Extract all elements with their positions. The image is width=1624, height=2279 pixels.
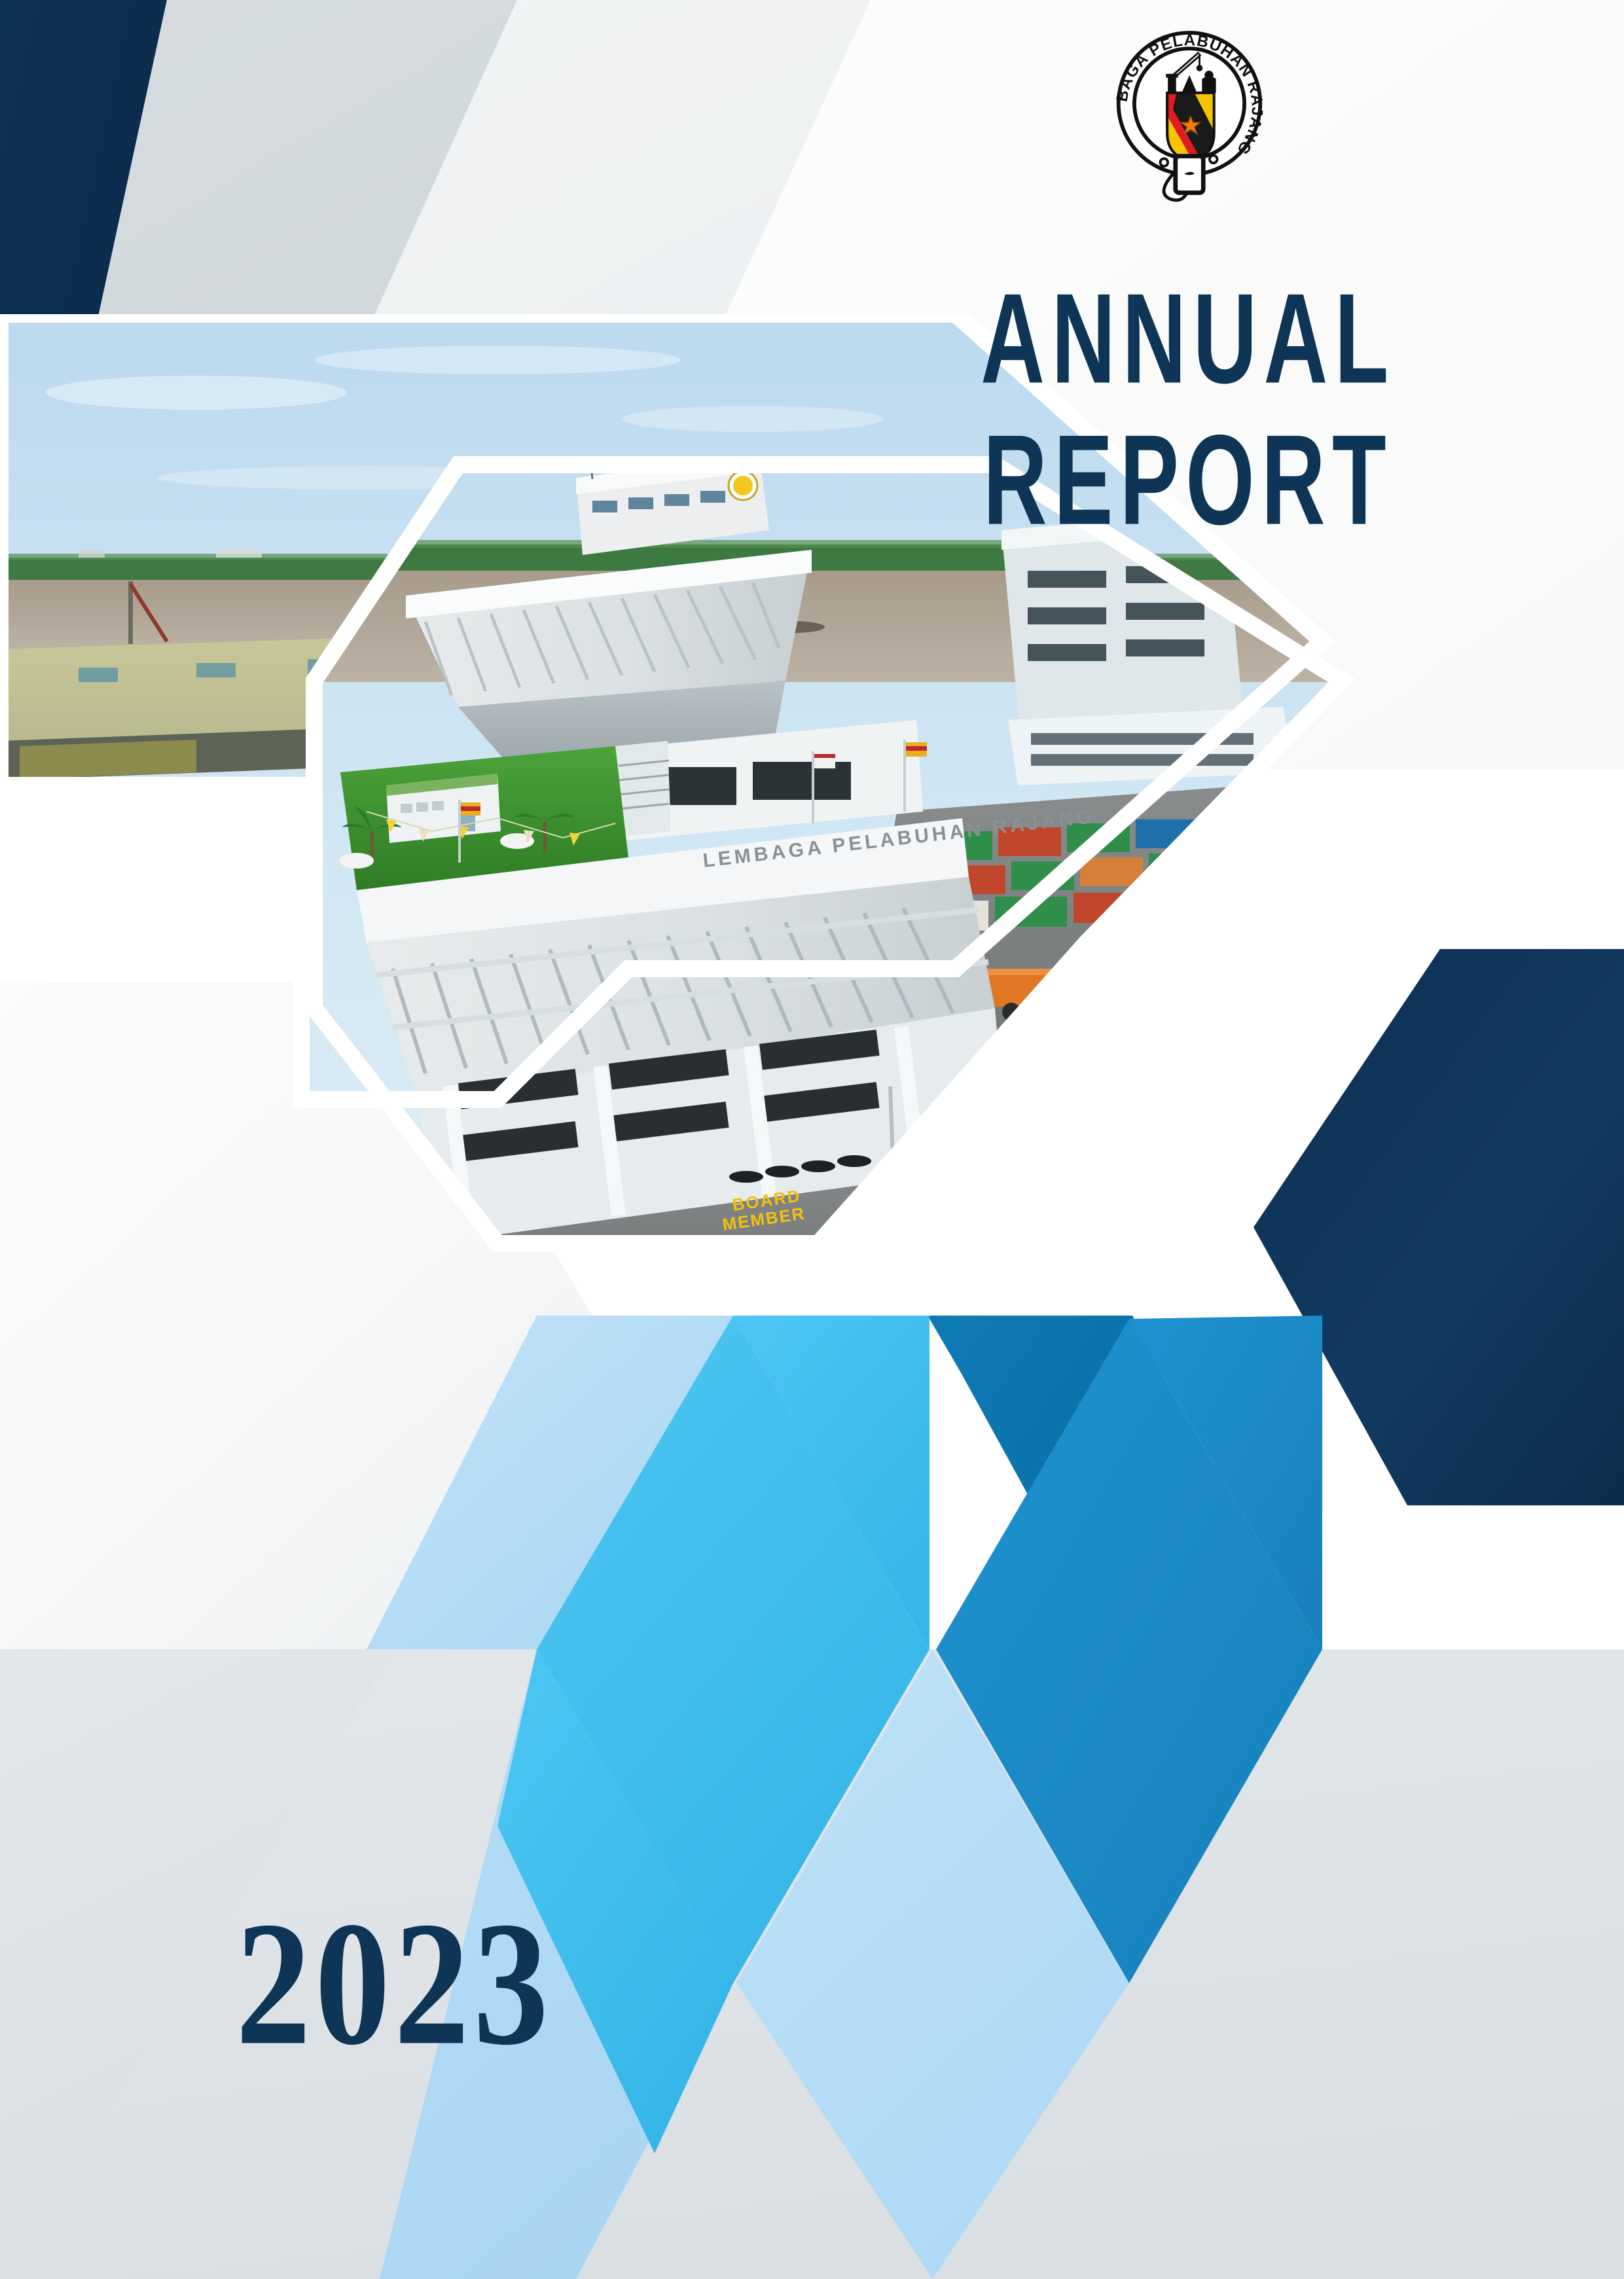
- organization-logo: LEMBAGA PELABUHAN RAJANG: [1094, 13, 1284, 203]
- cover-year: 2023: [236, 1895, 552, 2072]
- annual-report-cover-page: LEMBAGA PELABUHAN RAJANG: [0, 0, 1624, 2279]
- street-trees: [871, 1206, 1367, 1297]
- parked-cars: [956, 1138, 1376, 1190]
- lembaga-pelabuhan-rajang-seal: LEMBAGA PELABUHAN RAJANG: [1094, 13, 1284, 203]
- title-line-report: REPORT: [920, 416, 1456, 545]
- title-line-annual: ANNUAL: [920, 275, 1456, 403]
- cover-title: ANNUAL REPORT: [903, 275, 1473, 589]
